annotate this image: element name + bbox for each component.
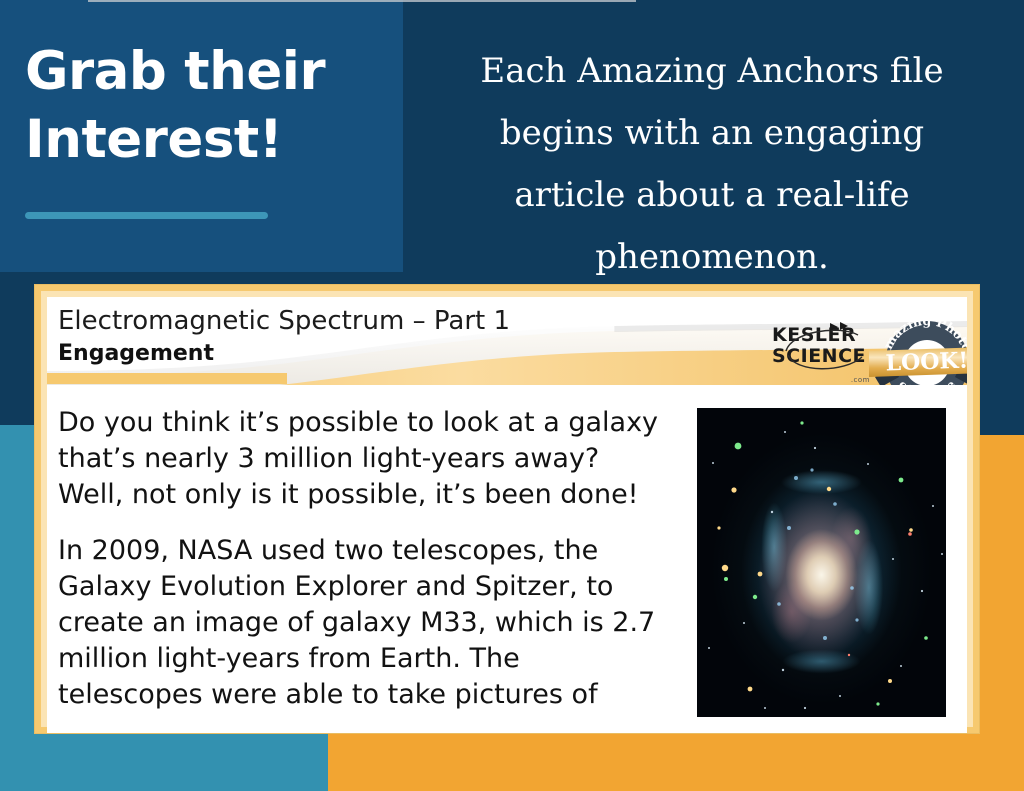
slide-canvas: Grab their Interest! Each Amazing Anchor… — [0, 0, 1024, 791]
kesler-science-logo: KESLER SCIENCE .com — [772, 325, 870, 381]
document-body: Do you think it’s possible to look at a … — [47, 385, 967, 733]
galaxy-photo — [697, 408, 946, 717]
intro-line-4: phenomenon. — [424, 226, 1000, 288]
logo-line-2: SCIENCE — [772, 346, 870, 367]
article-paragraph-2: In 2009, NASA used two telescopes, the G… — [58, 533, 670, 713]
intro-line-2: begins with an engaging — [424, 102, 1000, 164]
intro-line-1: Each Amazing Anchors file — [424, 40, 1000, 102]
logo-line-1: KESLER — [772, 325, 870, 346]
document-page: Electromagnetic Spectrum – Part 1 Engage… — [47, 297, 967, 733]
document-header: Electromagnetic Spectrum – Part 1 Engage… — [47, 297, 967, 385]
intro-line-3: article about a real-life — [424, 164, 1000, 226]
svg-text:LOOK!: LOOK! — [885, 348, 967, 377]
intro-paragraph: Each Amazing Anchors file begins with an… — [424, 40, 1000, 288]
headline-line-2: Interest! — [25, 106, 385, 174]
document-article-text: Do you think it’s possible to look at a … — [58, 405, 670, 733]
document-title: Electromagnetic Spectrum – Part 1 — [58, 306, 510, 336]
galaxy-starfield-overlay — [697, 408, 946, 717]
article-paragraph-1: Do you think it’s possible to look at a … — [58, 405, 670, 513]
headline-underline-rule — [25, 212, 268, 219]
orange-accent-block-bottom — [328, 733, 1024, 791]
header-gold-bar — [47, 373, 287, 384]
document-subtitle: Engagement — [58, 341, 214, 366]
look-badge-seal-icon: Amazing Photos of Science LOOK! — [867, 307, 967, 385]
page-title: Grab their Interest! — [25, 38, 385, 174]
top-hairline-divider — [88, 0, 636, 2]
document-preview-frame: Electromagnetic Spectrum – Part 1 Engage… — [35, 285, 979, 733]
headline-line-1: Grab their — [25, 38, 385, 106]
